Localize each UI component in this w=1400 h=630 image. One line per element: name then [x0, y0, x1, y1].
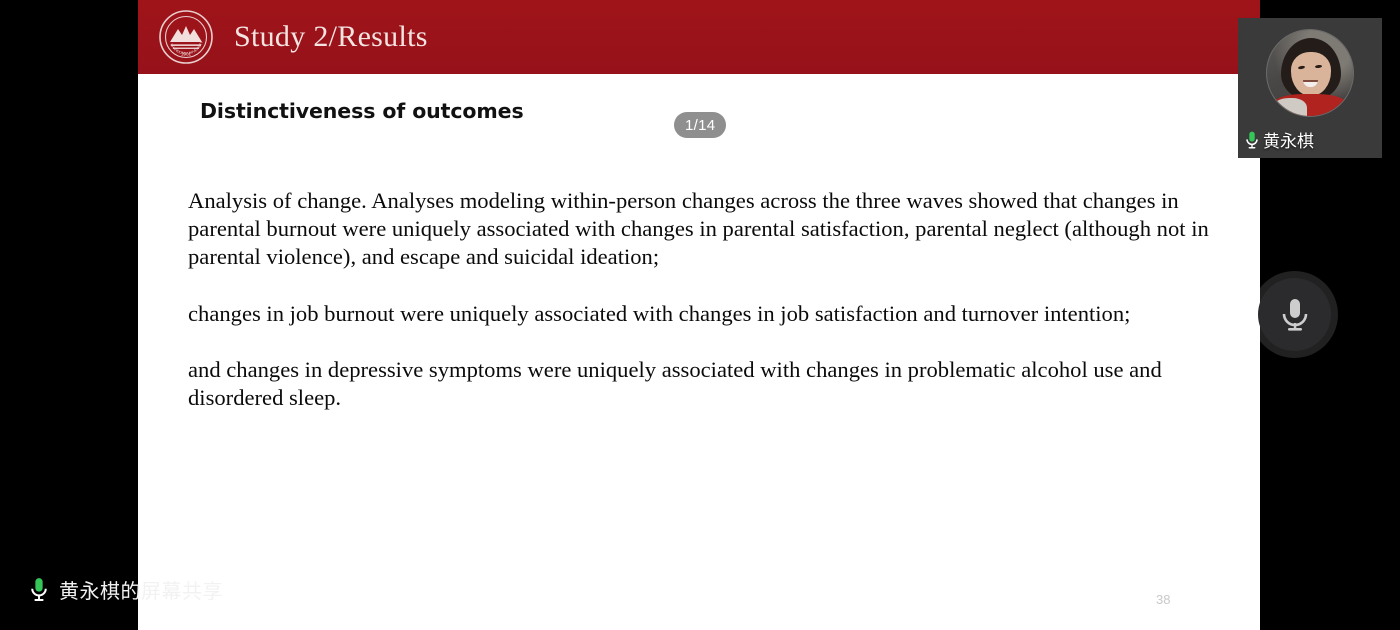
avatar: [1267, 30, 1353, 116]
screen-share-view: 1901 SHANDONG UNIVERSITY Study 2/Results…: [0, 0, 1400, 630]
slide-heading: Distinctiveness of outcomes: [200, 99, 524, 123]
screen-share-indicator: 黄永棋的屏幕共享: [28, 575, 223, 604]
slide-paragraph-1: Analysis of change. Analyses modeling wi…: [188, 187, 1228, 271]
shared-slide: 1901 SHANDONG UNIVERSITY Study 2/Results…: [138, 0, 1260, 630]
slide-number: 38: [1156, 592, 1170, 607]
slide-paragraph-2: changes in job burnout were uniquely ass…: [188, 300, 1228, 328]
screen-share-label: 黄永棋的屏幕共享: [59, 575, 223, 604]
shandong-university-logo: 1901 SHANDONG UNIVERSITY: [158, 9, 214, 65]
slide-header: 1901 SHANDONG UNIVERSITY Study 2/Results: [138, 0, 1260, 74]
microphone-icon: [1278, 295, 1312, 335]
mic-button[interactable]: [1258, 278, 1331, 351]
self-view-panel[interactable]: 黄永棋: [1238, 18, 1382, 158]
microphone-icon: [1244, 130, 1260, 150]
self-view-nameplate: 黄永棋: [1244, 127, 1314, 152]
slide-paragraph-3: and changes in depressive symptoms were …: [188, 356, 1228, 412]
page-counter[interactable]: 1/14: [674, 112, 726, 138]
slide-body: Distinctiveness of outcomes Analysis of …: [138, 74, 1260, 630]
microphone-icon: [28, 576, 50, 603]
self-view-participant-name: 黄永棋: [1263, 127, 1314, 152]
slide-title: Study 2/Results: [234, 20, 428, 54]
